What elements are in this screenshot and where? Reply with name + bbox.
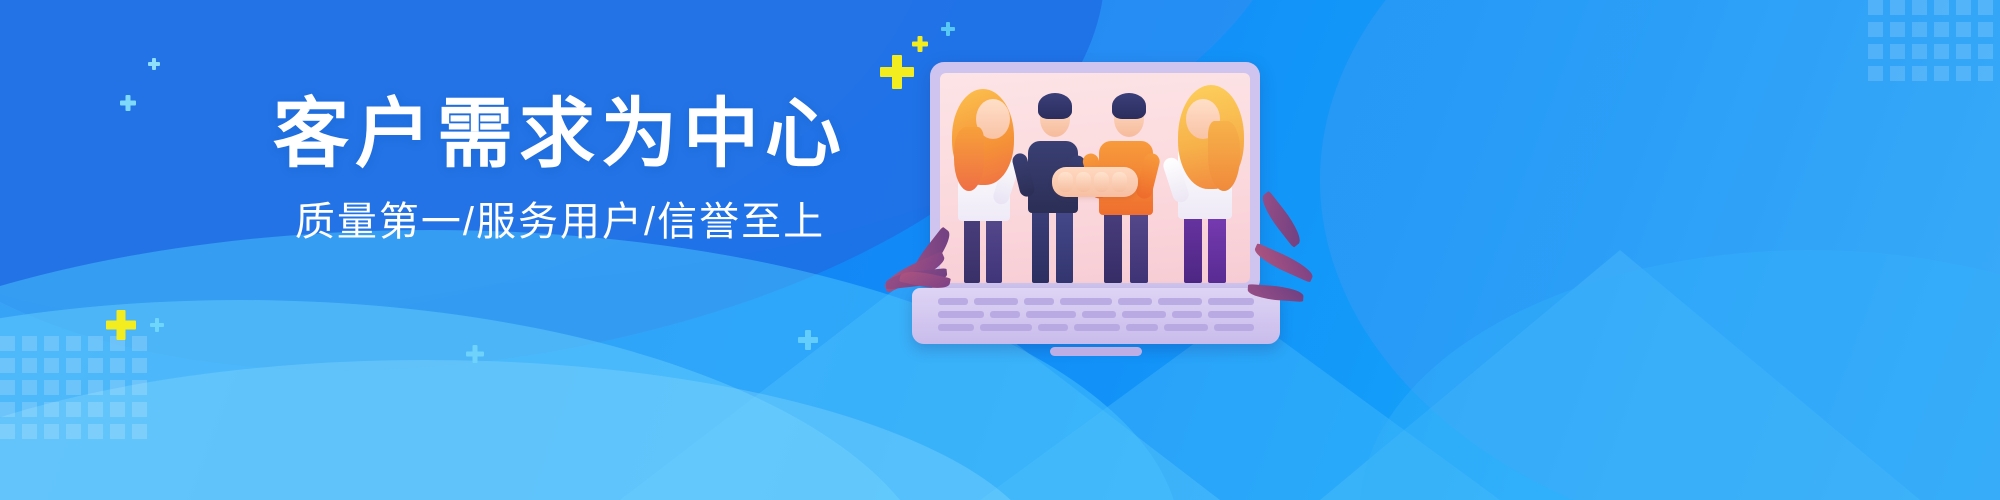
grid-dot xyxy=(22,380,37,395)
grid-dot xyxy=(132,358,147,373)
grid-dot xyxy=(1934,66,1949,81)
person-1-woman-orange-hair xyxy=(946,83,1024,283)
grid-dot xyxy=(1868,22,1883,37)
grid-dot xyxy=(1978,44,1993,59)
grid-dot xyxy=(66,402,81,417)
grid-dot xyxy=(44,336,59,351)
grid-dot xyxy=(88,380,103,395)
grid-dot xyxy=(88,358,103,373)
grid-dot xyxy=(0,424,15,439)
plus-cyan-center-bottom-icon xyxy=(466,345,484,363)
grid-dot xyxy=(0,380,15,395)
grid-dot xyxy=(110,402,125,417)
grid-dot xyxy=(1912,44,1927,59)
grid-dot xyxy=(132,336,147,351)
plus-cyan-bottom-left-icon xyxy=(150,318,164,332)
banner-subtitle: 质量第一/服务用户/信誉至上 xyxy=(250,200,870,244)
grid-dot xyxy=(1934,0,1949,15)
grid-dot xyxy=(132,424,147,439)
grid-dot xyxy=(1934,22,1949,37)
banner-headline: 客户需求为中心 xyxy=(250,96,870,174)
plus-cyan-small-top-icon xyxy=(941,22,955,36)
grid-dot xyxy=(66,380,81,395)
laptop-trackpad xyxy=(1050,347,1142,356)
grid-dot xyxy=(44,402,59,417)
grid-dot xyxy=(22,358,37,373)
grid-dot xyxy=(66,358,81,373)
grid-dot xyxy=(1934,44,1949,59)
grid-dot xyxy=(1868,0,1883,15)
person-4-woman-long-hair xyxy=(1164,81,1246,283)
grid-dot xyxy=(1978,0,1993,15)
grid-dot xyxy=(0,402,15,417)
grid-dot xyxy=(1956,66,1971,81)
dot-grid-top-right xyxy=(1868,0,2000,88)
grid-dot xyxy=(132,402,147,417)
grid-dot xyxy=(22,336,37,351)
grid-dot xyxy=(132,380,147,395)
dot-grid-bottom-left xyxy=(0,336,154,446)
plus-yellow-large-icon xyxy=(880,55,914,89)
grid-dot xyxy=(88,424,103,439)
grid-dot xyxy=(44,424,59,439)
grid-dot xyxy=(1868,66,1883,81)
grid-dot xyxy=(1890,0,1905,15)
grid-dot xyxy=(1912,22,1927,37)
frond-leaf-5 xyxy=(1256,191,1306,248)
background-triangle-3 xyxy=(1320,250,1920,500)
plus-cyan-left-top-icon xyxy=(148,58,160,70)
plus-yellow-bottom-left-icon xyxy=(106,310,136,340)
grid-dot xyxy=(66,336,81,351)
plus-cyan-left-mid-icon xyxy=(120,95,136,111)
grid-dot xyxy=(1956,22,1971,37)
grid-dot xyxy=(44,380,59,395)
grid-dot xyxy=(0,358,15,373)
grid-dot xyxy=(110,358,125,373)
laptop-screen xyxy=(940,73,1250,283)
grid-dot xyxy=(1890,66,1905,81)
grid-dot xyxy=(1912,66,1927,81)
grid-dot xyxy=(1978,22,1993,37)
laptop-keyboard xyxy=(938,298,1254,338)
grid-dot xyxy=(44,358,59,373)
grid-dot xyxy=(1956,0,1971,15)
grid-dot xyxy=(110,380,125,395)
grid-dot xyxy=(88,336,103,351)
headline-block: 客户需求为中心 质量第一/服务用户/信誉至上 xyxy=(250,96,870,244)
laptop-illustration xyxy=(912,62,1280,344)
grid-dot xyxy=(22,402,37,417)
frond-leaf-6 xyxy=(1251,243,1316,283)
laptop-base xyxy=(912,288,1280,344)
promo-banner: 客户需求为中心 质量第一/服务用户/信誉至上 xyxy=(0,0,2000,500)
grid-dot xyxy=(1868,44,1883,59)
grid-dot xyxy=(88,402,103,417)
grid-dot xyxy=(22,424,37,439)
plus-yellow-small-icon xyxy=(912,36,928,52)
joined-hands xyxy=(1052,167,1138,197)
grid-dot xyxy=(110,336,125,351)
grid-dot xyxy=(110,424,125,439)
laptop-lid xyxy=(930,62,1260,294)
grid-dot xyxy=(1978,66,1993,81)
grid-dot xyxy=(66,424,81,439)
grid-dot xyxy=(1956,44,1971,59)
grid-dot xyxy=(1890,22,1905,37)
grid-dot xyxy=(1890,44,1905,59)
grid-dot xyxy=(1912,0,1927,15)
grid-dot xyxy=(0,336,15,351)
